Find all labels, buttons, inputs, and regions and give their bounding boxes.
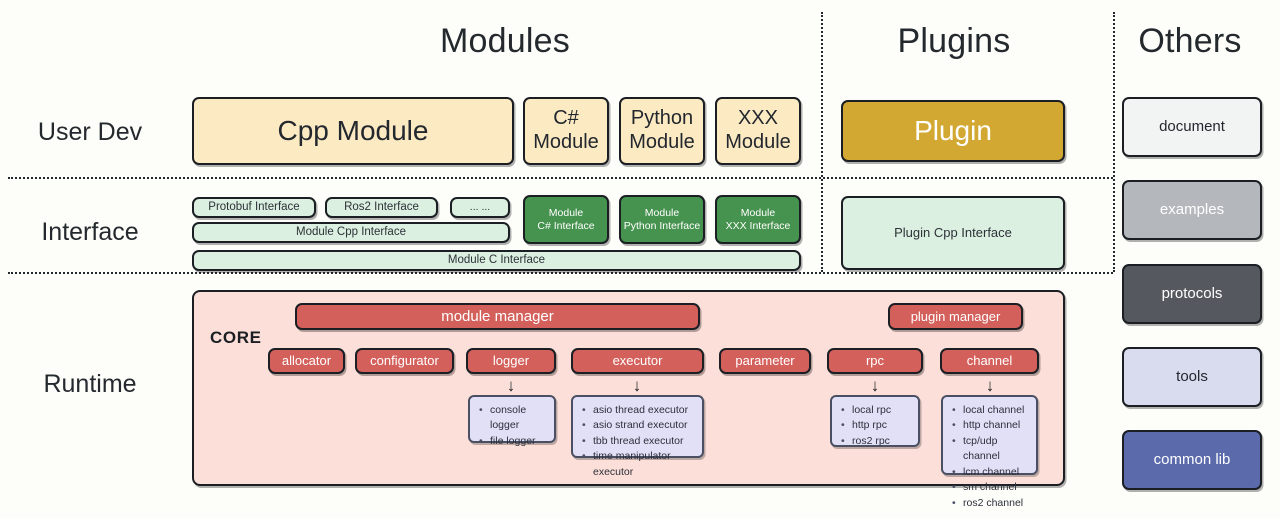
detail-item: asio thread executor — [593, 403, 694, 418]
node-module-cpp-interface[interactable]: Module Cpp Interface — [192, 222, 510, 243]
node-python-module[interactable]: PythonModule — [619, 97, 705, 165]
node-xxx-module[interactable]: XXXModule — [715, 97, 801, 165]
node-ros2-interface-label: Ros2 Interface — [344, 201, 419, 215]
node-plugin-cpp-interface[interactable]: Plugin Cpp Interface — [841, 196, 1065, 270]
detail-item: ros2 channel — [963, 496, 1028, 511]
node-parameter[interactable]: parameter — [719, 348, 811, 374]
node-ros2-interface[interactable]: Ros2 Interface — [325, 197, 438, 218]
node-more-interfaces-label: ... ... — [470, 201, 490, 213]
row-label-interface: Interface — [0, 218, 180, 247]
node-plugin-manager-label: plugin manager — [911, 309, 1001, 324]
node-plugin-cpp-interface-label: Plugin Cpp Interface — [894, 225, 1012, 240]
node-module-python-interface-label: ModulePython Interface — [624, 207, 700, 232]
row-label-runtime: Runtime — [0, 370, 180, 399]
node-others-examples-label: examples — [1160, 201, 1224, 219]
node-module-cpp-interface-label: Module Cpp Interface — [296, 226, 406, 240]
node-module-xxx-interface[interactable]: ModuleXXX Interface — [715, 195, 801, 244]
node-python-module-label: PythonModule — [629, 107, 695, 154]
node-parameter-label: parameter — [735, 353, 794, 368]
node-module-xxx-interface-label: ModuleXXX Interface — [726, 207, 791, 232]
detail-item: asio strand executor — [593, 418, 694, 433]
detail-item: http rpc — [852, 418, 910, 433]
divider-interface-runtime — [8, 272, 1113, 274]
detail-item: sm channel — [963, 480, 1028, 495]
node-logger[interactable]: logger — [466, 348, 556, 374]
node-others-tools[interactable]: tools — [1122, 347, 1262, 407]
detail-panel-channel: local channel http channel tcp/udp chann… — [941, 395, 1038, 475]
node-others-common-lib[interactable]: common lib — [1122, 430, 1262, 490]
node-csharp-module[interactable]: C#Module — [523, 97, 609, 165]
node-allocator[interactable]: allocator — [268, 348, 345, 374]
detail-item: console logger — [490, 403, 546, 434]
node-protobuf-interface-label: Protobuf Interface — [208, 201, 299, 215]
node-module-c-interface[interactable]: Module C Interface — [192, 250, 801, 271]
arrow-down-channel-icon: ↓ — [982, 377, 998, 394]
row-label-user-dev: User Dev — [0, 118, 180, 147]
node-protobuf-interface[interactable]: Protobuf Interface — [192, 197, 316, 218]
node-others-common-lib-label: common lib — [1154, 451, 1231, 469]
detail-panel-logger: console logger file logger — [468, 395, 556, 443]
node-rpc[interactable]: rpc — [827, 348, 923, 374]
node-module-manager-label: module manager — [441, 308, 554, 326]
detail-item: http channel — [963, 418, 1028, 433]
column-header-others: Others — [1100, 22, 1280, 61]
node-others-document[interactable]: document — [1122, 97, 1262, 157]
node-others-tools-label: tools — [1176, 368, 1208, 386]
detail-item: ros2 rpc — [852, 434, 910, 449]
arrow-down-rpc-icon: ↓ — [867, 377, 883, 394]
node-channel-label: channel — [967, 353, 1013, 368]
node-plugin[interactable]: Plugin — [841, 100, 1065, 162]
node-others-protocols-label: protocols — [1162, 285, 1223, 303]
node-logger-label: logger — [493, 353, 529, 368]
detail-item: tcp/udp channel — [963, 434, 1028, 465]
node-csharp-module-label: C#Module — [533, 107, 599, 154]
detail-panel-rpc: local rpc http rpc ros2 rpc — [830, 395, 920, 447]
arrow-down-executor-icon: ↓ — [629, 377, 645, 394]
column-header-plugins: Plugins — [828, 22, 1080, 61]
arrow-down-logger-icon: ↓ — [503, 377, 519, 394]
node-rpc-label: rpc — [866, 353, 884, 368]
node-module-c-interface-label: Module C Interface — [448, 254, 545, 268]
node-xxx-module-label: XXXModule — [725, 107, 791, 154]
detail-item: time manipulator executor — [593, 449, 694, 480]
detail-item: lcm channel — [963, 465, 1028, 480]
detail-panel-executor: asio thread executor asio strand executo… — [571, 395, 704, 458]
node-cpp-module-label: Cpp Module — [278, 114, 429, 147]
column-header-modules: Modules — [190, 22, 820, 61]
node-cpp-module[interactable]: Cpp Module — [192, 97, 514, 165]
node-module-csharp-interface-label: ModuleC# Interface — [537, 207, 594, 232]
node-module-csharp-interface[interactable]: ModuleC# Interface — [523, 195, 609, 244]
detail-item: tbb thread executor — [593, 434, 694, 449]
node-more-interfaces[interactable]: ... ... — [450, 197, 510, 218]
node-plugin-label: Plugin — [914, 114, 992, 147]
divider-plugins-others — [1113, 12, 1115, 272]
node-others-examples[interactable]: examples — [1122, 180, 1262, 240]
node-channel[interactable]: channel — [940, 348, 1039, 374]
node-module-python-interface[interactable]: ModulePython Interface — [619, 195, 705, 244]
node-executor[interactable]: executor — [571, 348, 704, 374]
node-allocator-label: allocator — [282, 353, 331, 368]
divider-userdev-interface — [8, 177, 1113, 179]
detail-item: file logger — [490, 434, 546, 449]
core-title: CORE — [210, 328, 262, 348]
node-executor-label: executor — [613, 353, 663, 368]
divider-modules-plugins — [821, 12, 823, 272]
detail-item: local channel — [963, 403, 1028, 418]
node-configurator-label: configurator — [370, 353, 439, 368]
node-plugin-manager[interactable]: plugin manager — [888, 303, 1023, 330]
diagram-canvas: Modules Plugins Others User Dev Interfac… — [0, 0, 1280, 519]
detail-item: local rpc — [852, 403, 910, 418]
node-others-document-label: document — [1159, 118, 1225, 136]
node-others-protocols[interactable]: protocols — [1122, 264, 1262, 324]
node-module-manager[interactable]: module manager — [295, 303, 700, 330]
node-configurator[interactable]: configurator — [355, 348, 454, 374]
